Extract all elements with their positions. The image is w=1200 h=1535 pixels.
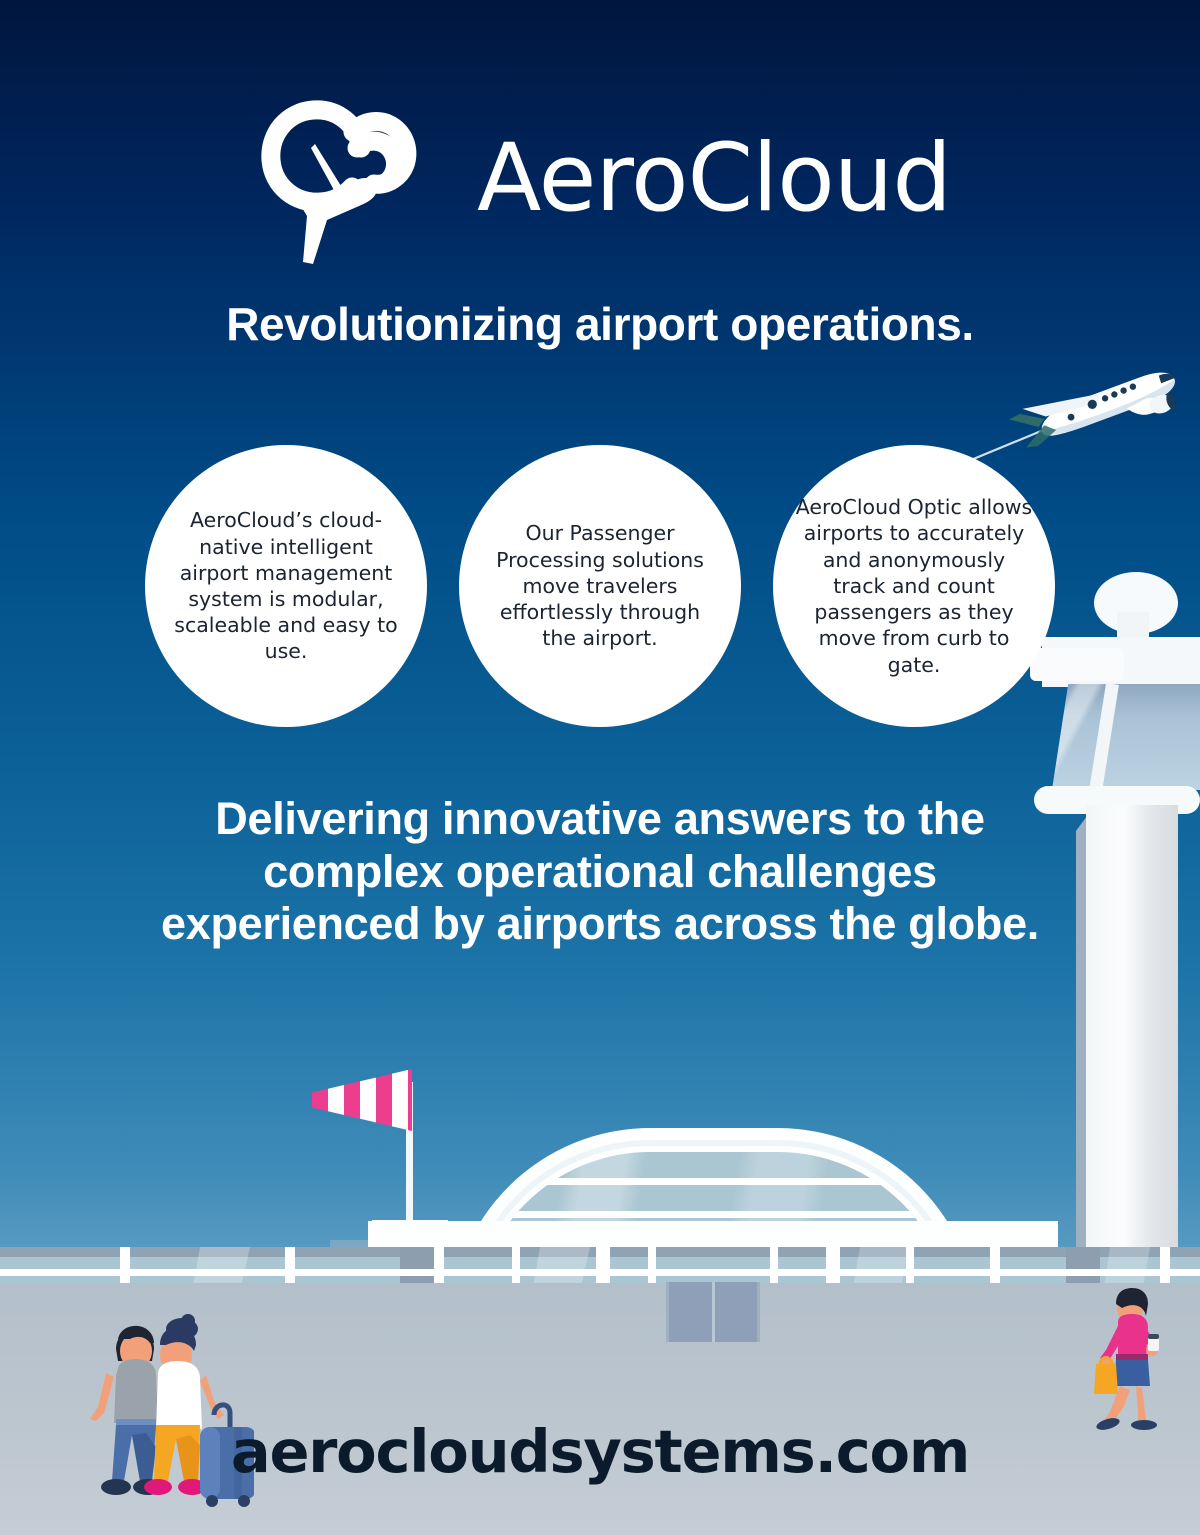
bubble-text: AeroCloud’s cloud-native intelligent air…	[167, 507, 405, 664]
feature-bubble-passenger-processing: Our Passenger Processing solutions move …	[459, 445, 741, 727]
brand-logo: AeroCloud	[0, 88, 1200, 270]
tagline: Revolutionizing airport operations.	[0, 297, 1200, 351]
headline: Delivering innovative answers to the com…	[0, 793, 1200, 951]
bubble-text: Our Passenger Processing solutions move …	[481, 520, 719, 651]
bubble-text: AeroCloud Optic allows airports to accur…	[795, 494, 1033, 678]
cloud-plane-logo-icon	[249, 88, 425, 270]
website-url[interactable]: aerocloudsystems.com	[0, 1417, 1200, 1486]
feature-bubble-cloud-native: AeroCloud’s cloud-native intelligent air…	[145, 445, 427, 727]
poster-content: AeroCloud Revolutionizing airport operat…	[0, 0, 1200, 1535]
brand-name: AeroCloud	[477, 132, 951, 226]
feature-bubble-optic: AeroCloud Optic allows airports to accur…	[773, 445, 1055, 727]
feature-bubbles: AeroCloud’s cloud-native intelligent air…	[0, 445, 1200, 727]
poster-root: AeroCloud Revolutionizing airport operat…	[0, 0, 1200, 1535]
